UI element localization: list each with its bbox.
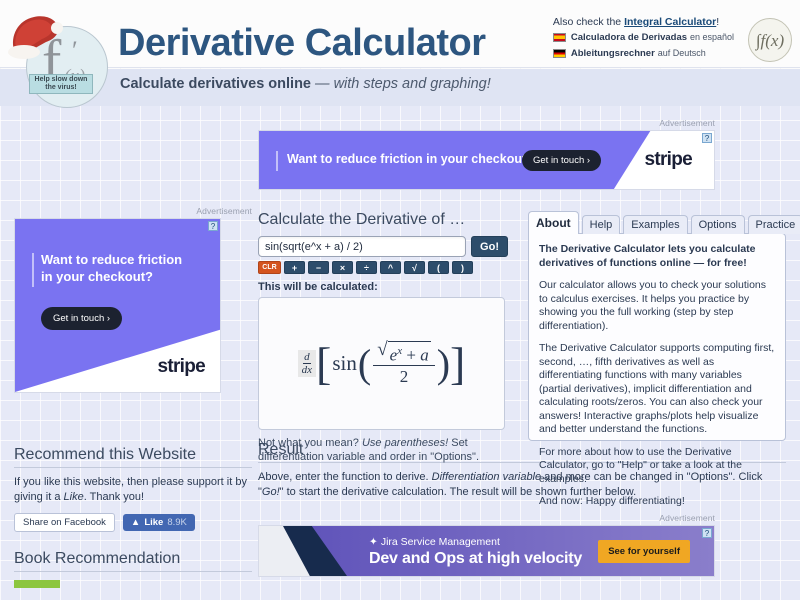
- recommend-text-like: Like: [64, 491, 84, 503]
- leaderboard-ad-label: Advertisement: [258, 118, 715, 128]
- key-clear-button[interactable]: CLR: [258, 261, 281, 274]
- sin-label: sin: [332, 351, 357, 376]
- formula-preview-box: d dx [ sin ( √ ex + a 2: [258, 297, 505, 430]
- site-header: f ′ (x) Help slow down the virus! Deriva…: [0, 0, 800, 106]
- jira-ad-kicker: ✦Jira Service Management: [369, 536, 500, 548]
- key-paren-open-button[interactable]: (: [428, 261, 449, 274]
- operator-numerator: d: [303, 351, 311, 364]
- bracket-close: ]: [450, 344, 465, 384]
- book-cover-thumbnail: [14, 580, 60, 588]
- radicand: ex + a: [388, 341, 431, 365]
- key-sqrt-button[interactable]: √: [404, 261, 425, 274]
- subtitle-dash: —: [315, 76, 330, 92]
- key-power-button[interactable]: ^: [380, 261, 401, 274]
- like-count: 8.9K: [167, 517, 187, 528]
- book-section-title: Book Recommendation: [14, 550, 252, 572]
- integral-calculator-logo-icon[interactable]: ∫f(x): [748, 18, 792, 62]
- facebook-like-button[interactable]: ▲ Like 8.9K: [123, 514, 195, 531]
- social-buttons-row: Share on Facebook ▲ Like 8.9K: [14, 513, 252, 532]
- sidebar-ad-label: Advertisement: [14, 206, 252, 216]
- about-paragraph-1: The Derivative Calculator lets you calcu…: [539, 243, 775, 270]
- also-check-prefix: Also check the: [553, 16, 624, 28]
- ad-info-icon[interactable]: ?: [702, 133, 712, 143]
- logo-prime-mark: ′: [72, 36, 78, 66]
- main-content: Advertisement Want to reduce friction in…: [258, 118, 786, 577]
- bracket-open: [: [316, 344, 331, 384]
- spanish-link-label[interactable]: Calculadora de Derivadas: [571, 32, 687, 43]
- about-paragraph-2: Our calculator allows you to check your …: [539, 279, 775, 333]
- jira-ad-cta-button[interactable]: See for yourself: [598, 540, 690, 563]
- calculator-panel: Calculate the Derivative of … Go! CLR + …: [258, 211, 508, 464]
- paren-close-glyph: ): [437, 346, 450, 382]
- formula-expression: d dx [ sin ( √ ex + a 2: [298, 340, 466, 388]
- subtitle-italic: with steps and graphing!: [334, 76, 491, 92]
- tab-about[interactable]: About: [528, 211, 579, 234]
- tab-bar: About Help Examples Options Practice: [528, 211, 786, 234]
- result-text-italic-1: Differentiation variable: [432, 471, 541, 483]
- german-link-label[interactable]: Ableitungsrechner: [571, 48, 655, 59]
- stripe-logo: stripe: [157, 356, 205, 378]
- site-logo[interactable]: f ′ (x) Help slow down the virus!: [8, 14, 112, 110]
- thumbs-up-icon: ▲: [131, 517, 140, 528]
- result-text-italic-2: Go!: [262, 486, 280, 498]
- german-link-sub: auf Deutsch: [658, 48, 706, 58]
- hint-prefix: Not what you mean?: [258, 437, 362, 449]
- jira-ad-headline: Dev and Ops at high velocity: [369, 550, 582, 568]
- function-input-row: Go!: [258, 236, 508, 257]
- radicand-exponent: x: [397, 345, 402, 357]
- about-paragraph-3: The Derivative Calculator supports compu…: [539, 342, 775, 437]
- stripe-logo: stripe: [644, 149, 692, 171]
- key-minus-button[interactable]: −: [308, 261, 329, 274]
- about-paragraph-5: And now: Happy differentiating!: [539, 495, 775, 509]
- key-times-button[interactable]: ×: [332, 261, 353, 274]
- recommend-section-title: Recommend this Website: [14, 446, 252, 468]
- will-be-calculated-label: This will be calculated:: [258, 281, 508, 293]
- key-plus-button[interactable]: +: [284, 261, 305, 274]
- radicand-operator: +: [406, 345, 416, 364]
- also-check-suffix: !: [716, 16, 719, 28]
- fraction-denominator: 2: [400, 366, 409, 387]
- key-divide-button[interactable]: ÷: [356, 261, 377, 274]
- tab-practice[interactable]: Practice: [748, 215, 800, 234]
- recommend-text-b: . Thank you!: [84, 491, 144, 503]
- leaderboard-ad-headline: Want to reduce friction in your checkout…: [287, 152, 534, 166]
- radicand-term: a: [420, 345, 429, 364]
- hint-italic: Use parentheses!: [362, 437, 448, 449]
- calculator-section-title: Calculate the Derivative of …: [258, 211, 508, 229]
- about-panel: The Derivative Calculator lets you calcu…: [528, 233, 786, 441]
- like-label: Like: [144, 517, 163, 528]
- stripe-sidebar-ad[interactable]: Want to reduce friction in your checkout…: [14, 218, 221, 393]
- ad-accent-bar: [276, 151, 278, 171]
- virus-awareness-badge: Help slow down the virus!: [29, 74, 93, 94]
- about-paragraph-4: For more about how to use the Derivative…: [539, 446, 775, 487]
- result-text-a: Above, enter the function to derive.: [258, 471, 432, 483]
- ad-info-icon[interactable]: ?: [702, 528, 712, 538]
- share-on-facebook-button[interactable]: Share on Facebook: [14, 513, 115, 532]
- ad-info-icon[interactable]: ?: [208, 221, 218, 231]
- left-sidebar: Advertisement Want to reduce friction in…: [14, 118, 252, 588]
- tab-examples[interactable]: Examples: [623, 215, 687, 234]
- recommend-text: If you like this website, then please su…: [14, 475, 252, 504]
- tab-help[interactable]: Help: [582, 215, 621, 234]
- go-button[interactable]: Go!: [471, 236, 508, 257]
- header-links: Also check the Integral Calculator! Calc…: [553, 16, 734, 63]
- operator-denominator: dx: [302, 364, 312, 376]
- stripe-leaderboard-ad[interactable]: Want to reduce friction in your checkout…: [258, 130, 715, 190]
- ad-accent-bar: [32, 253, 34, 287]
- jira-product-name: Jira Service Management: [381, 536, 500, 548]
- square-root: √ ex + a: [377, 341, 430, 365]
- info-tabs: About Help Examples Options Practice The…: [528, 211, 786, 441]
- fraction: √ ex + a 2: [373, 340, 434, 388]
- sidebar-ad-cta-button[interactable]: Get in touch ›: [41, 307, 122, 330]
- integral-calculator-link[interactable]: Integral Calculator: [624, 16, 716, 28]
- derivative-operator: d dx: [298, 350, 316, 377]
- key-paren-close-button[interactable]: ): [452, 261, 473, 274]
- subtitle-bold: Calculate derivatives online: [120, 76, 311, 92]
- spanish-version-line[interactable]: Calculadora de Derivadas en español: [553, 31, 734, 44]
- fraction-numerator: √ ex + a: [373, 340, 434, 367]
- symbol-keypad: CLR + − × ÷ ^ √ ( ): [258, 261, 508, 274]
- santa-hat-icon: [8, 14, 64, 60]
- page-subtitle: Calculate derivatives online — with step…: [120, 76, 491, 92]
- radical-icon: √: [377, 341, 387, 358]
- sidebar-ad-headline: Want to reduce friction in your checkout…: [41, 251, 191, 285]
- integral-calculator-line: Also check the Integral Calculator!: [553, 16, 734, 28]
- jira-banner-ad[interactable]: ✦Jira Service Management Dev and Ops at …: [258, 525, 715, 577]
- jira-ad-label: Advertisement: [258, 513, 715, 523]
- german-version-line[interactable]: Ableitungsrechner auf Deutsch: [553, 47, 734, 60]
- germany-flag-icon: [553, 49, 566, 58]
- leaderboard-ad-cta-button[interactable]: Get in touch ›: [522, 150, 601, 171]
- spain-flag-icon: [553, 33, 566, 42]
- parentheses-hint: Not what you mean? Use parentheses! Set …: [258, 436, 508, 464]
- tab-options[interactable]: Options: [691, 215, 745, 234]
- page-title: Derivative Calculator: [118, 22, 486, 65]
- paren-open-glyph: (: [358, 346, 371, 382]
- jira-bolt-icon: ✦: [369, 536, 378, 548]
- spanish-link-sub: en español: [690, 32, 734, 42]
- function-input[interactable]: [258, 236, 466, 257]
